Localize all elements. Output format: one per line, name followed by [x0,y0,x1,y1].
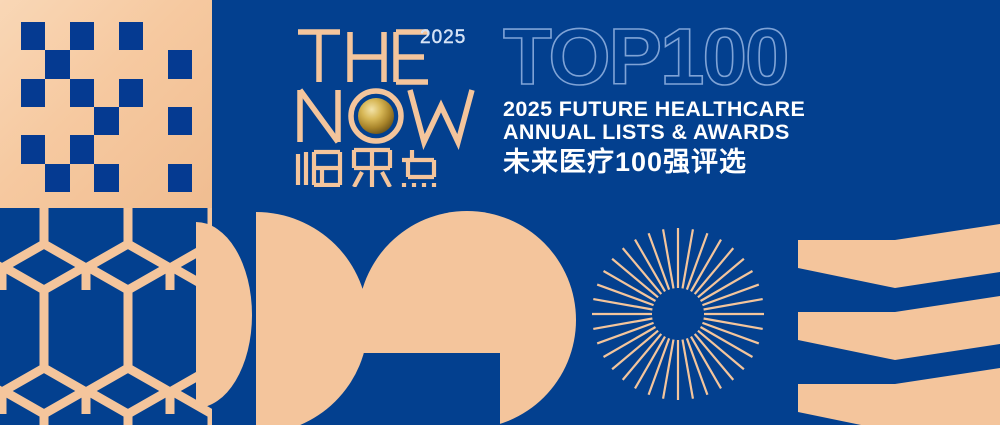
checker-cell-5-0 [21,164,45,192]
logo-year: 2025 [420,27,466,49]
diagonal-stripe-pattern [790,208,1000,425]
subtitle-line-2: ANNUAL LISTS & AWARDS [503,121,848,144]
chinese-title: 未来医疗100强评选 [503,146,848,178]
checker-cell-3-3 [94,107,118,135]
checker-cell-0-1 [45,22,69,50]
checker-cell-0-5 [143,22,167,50]
checker-cell-3-1 [45,107,69,135]
checker-cell-3-4 [119,107,143,135]
checker-cell-1-0 [21,50,45,78]
checker-cell-4-3 [94,135,118,163]
sunburst-pattern [592,228,764,400]
checker-cell-5-5 [143,164,167,192]
checker-cell-4-1 [45,135,69,163]
checker-cell-0-2 [70,22,94,50]
checker-cell-5-4 [119,164,143,192]
checker-cell-2-2 [70,79,94,107]
checker-cell-2-0 [21,79,45,107]
checker-cell-3-5 [143,107,167,135]
checkerboard-panel [0,0,212,208]
checker-cell-3-6 [168,107,192,135]
checker-cell-2-1 [45,79,69,107]
checker-cell-4-5 [143,135,167,163]
checker-cell-5-3 [94,164,118,192]
gold-orb [358,98,394,134]
checker-cell-1-6 [168,50,192,78]
checker-cell-0-0 [21,22,45,50]
checker-cell-3-0 [21,107,45,135]
diagonal-stripe-svg [790,208,1000,425]
checker-cell-4-0 [21,135,45,163]
notched-circle-shape [358,211,576,425]
subtitle-line-1: 2025 FUTURE HEALTHCARE [503,98,848,121]
hexagon-lattice-pattern [0,208,212,425]
checker-cell-2-6 [168,79,192,107]
checker-cell-4-4 [119,135,143,163]
sunburst-svg [592,228,764,400]
checker-cell-5-6 [168,164,192,192]
checker-cell-1-5 [143,50,167,78]
checker-cell-3-2 [70,107,94,135]
checker-cell-2-5 [143,79,167,107]
event-banner: 2025 TOP100 2025 FUTURE HEALTHCARE ANNUA… [0,0,1000,425]
checker-cell-0-6 [168,22,192,50]
notched-circle-svg [358,211,576,425]
checker-cell-4-6 [168,135,192,163]
checker-cell-2-4 [119,79,143,107]
checker-cell-1-3 [94,50,118,78]
checker-cell-0-3 [94,22,118,50]
hexagon-lattice-svg [0,208,212,425]
checker-cell-1-2 [70,50,94,78]
checker-cell-5-2 [70,164,94,192]
checker-cell-4-2 [70,135,94,163]
checker-cell-0-4 [119,22,143,50]
checkerboard-pattern [21,22,192,192]
half-circle-shape [196,222,252,408]
checker-cell-2-3 [94,79,118,107]
checker-cell-1-1 [45,50,69,78]
title-block: TOP100 2025 FUTURE HEALTHCARE ANNUAL LIS… [503,22,848,178]
checker-cell-1-4 [119,50,143,78]
checker-cell-5-1 [45,164,69,192]
top100-text: TOP100 [503,22,787,96]
half-circle-shape-large [256,212,368,425]
top100-headline: TOP100 [503,22,848,96]
logo-lockup: 2025 [292,22,487,187]
